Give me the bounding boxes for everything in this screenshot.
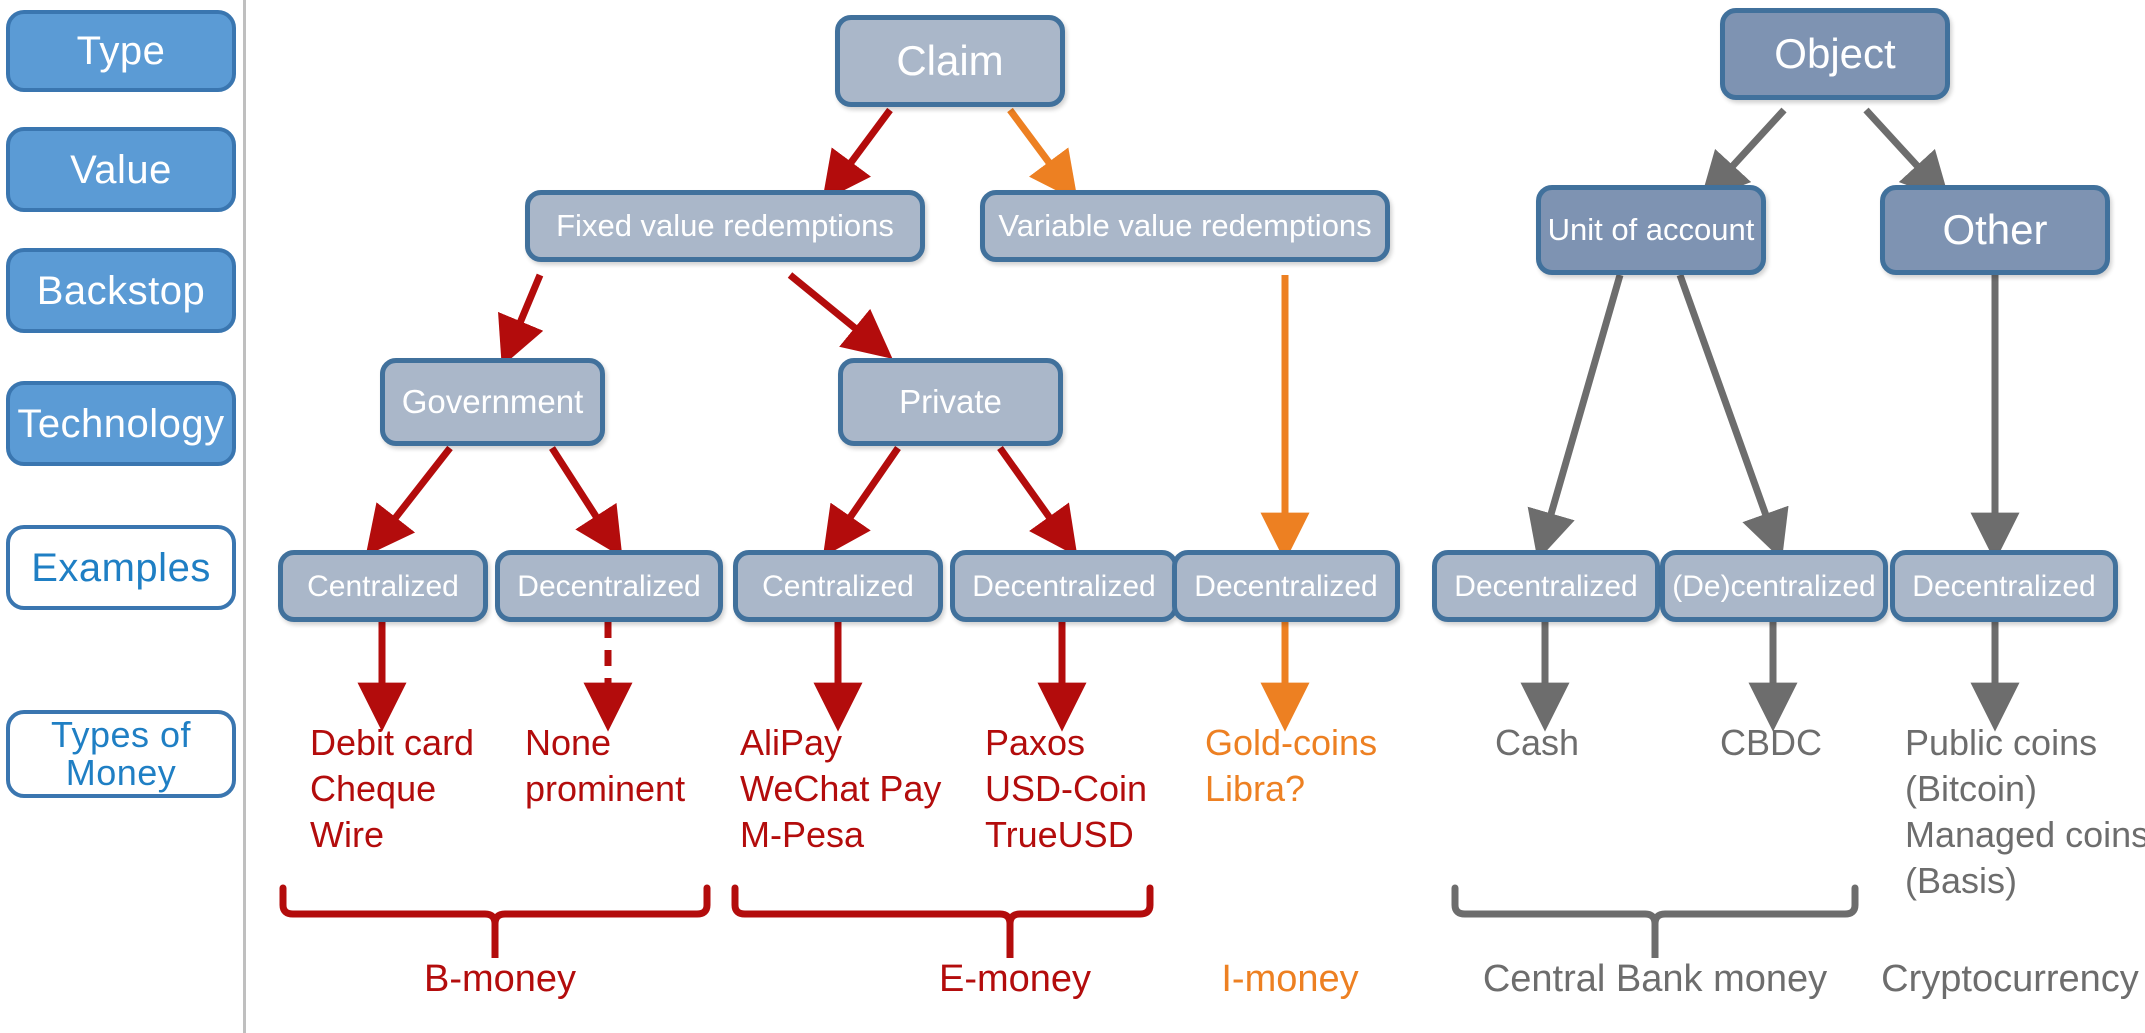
node-government[interactable]: Government: [380, 358, 605, 446]
example-cash: Cash: [1495, 720, 1675, 766]
node-tech-other-decentralized-label: Decentralized: [1912, 570, 2095, 603]
row-label-examples: Examples: [6, 525, 236, 610]
node-tech-priv-decentralized[interactable]: Decentralized: [950, 550, 1178, 622]
node-unit-of-account-label: Unit of account: [1548, 213, 1755, 247]
row-label-type-text: Type: [77, 30, 166, 72]
node-tech-gov-centralized-label: Centralized: [307, 570, 459, 603]
node-tech-gov-decentralized[interactable]: Decentralized: [495, 550, 723, 622]
row-label-examples-text: Examples: [31, 547, 211, 589]
node-tech-other-decentralized[interactable]: Decentralized: [1890, 550, 2118, 622]
node-private[interactable]: Private: [838, 358, 1063, 446]
node-tech-gov-decentralized-label: Decentralized: [517, 570, 700, 603]
type-central-bank-money: Central Bank money: [1455, 955, 1855, 1004]
example-e-centralized: AliPay WeChat Pay M-Pesa: [740, 720, 990, 858]
node-tech-variable-decentralized-label: Decentralized: [1194, 570, 1377, 603]
type-cryptocurrency: Cryptocurrency: [1880, 955, 2140, 1004]
node-other-label: Other: [1942, 207, 2047, 253]
node-fixed-value-redemptions-label: Fixed value redemptions: [556, 209, 894, 243]
row-label-type: Type: [6, 10, 236, 92]
node-tech-uoa-de-centralized[interactable]: (De)centralized: [1660, 550, 1888, 622]
type-i-money: I-money: [1190, 955, 1390, 1004]
example-b-centralized: Debit card Cheque Wire: [310, 720, 540, 858]
example-cbdc: CBDC: [1720, 720, 1910, 766]
diagram-canvas: Type Value Backstop Technology Examples …: [0, 0, 2145, 1033]
node-claim[interactable]: Claim: [835, 15, 1065, 107]
node-tech-uoa-decentralized[interactable]: Decentralized: [1432, 550, 1660, 622]
node-claim-label: Claim: [896, 38, 1003, 84]
row-label-technology-text: Technology: [17, 403, 224, 445]
node-object[interactable]: Object: [1720, 8, 1950, 100]
node-tech-priv-decentralized-label: Decentralized: [972, 570, 1155, 603]
node-private-label: Private: [899, 384, 1002, 420]
row-label-backstop: Backstop: [6, 248, 236, 333]
row-label-technology: Technology: [6, 381, 236, 466]
node-tech-uoa-de-centralized-label: (De)centralized: [1672, 570, 1875, 603]
node-tech-priv-centralized[interactable]: Centralized: [733, 550, 943, 622]
node-other[interactable]: Other: [1880, 185, 2110, 275]
column-divider: [243, 0, 246, 1033]
node-variable-value-redemptions[interactable]: Variable value redemptions: [980, 190, 1390, 262]
example-i-money: Gold-coins Libra?: [1205, 720, 1435, 812]
row-label-types-of-money-text: Types of Money: [10, 716, 232, 792]
node-variable-value-redemptions-label: Variable value redemptions: [998, 209, 1371, 243]
node-government-label: Government: [402, 384, 584, 420]
example-e-decentralized: Paxos USD-Coin TrueUSD: [985, 720, 1225, 858]
example-crypto: Public coins (Bitcoin) Managed coins (Ba…: [1905, 720, 2145, 904]
row-label-value-text: Value: [70, 149, 172, 191]
node-tech-gov-centralized[interactable]: Centralized: [278, 550, 488, 622]
type-e-money: E-money: [915, 955, 1115, 1004]
row-label-value: Value: [6, 127, 236, 212]
node-fixed-value-redemptions[interactable]: Fixed value redemptions: [525, 190, 925, 262]
example-b-decentralized: None prominent: [525, 720, 765, 812]
node-tech-variable-decentralized[interactable]: Decentralized: [1172, 550, 1400, 622]
connector-layer: [0, 0, 2145, 1033]
type-b-money: B-money: [400, 955, 600, 1004]
node-unit-of-account[interactable]: Unit of account: [1536, 185, 1766, 275]
node-object-label: Object: [1774, 31, 1895, 77]
node-tech-priv-centralized-label: Centralized: [762, 570, 914, 603]
node-tech-uoa-decentralized-label: Decentralized: [1454, 570, 1637, 603]
row-label-types-of-money: Types of Money: [6, 710, 236, 798]
row-label-backstop-text: Backstop: [37, 270, 206, 312]
